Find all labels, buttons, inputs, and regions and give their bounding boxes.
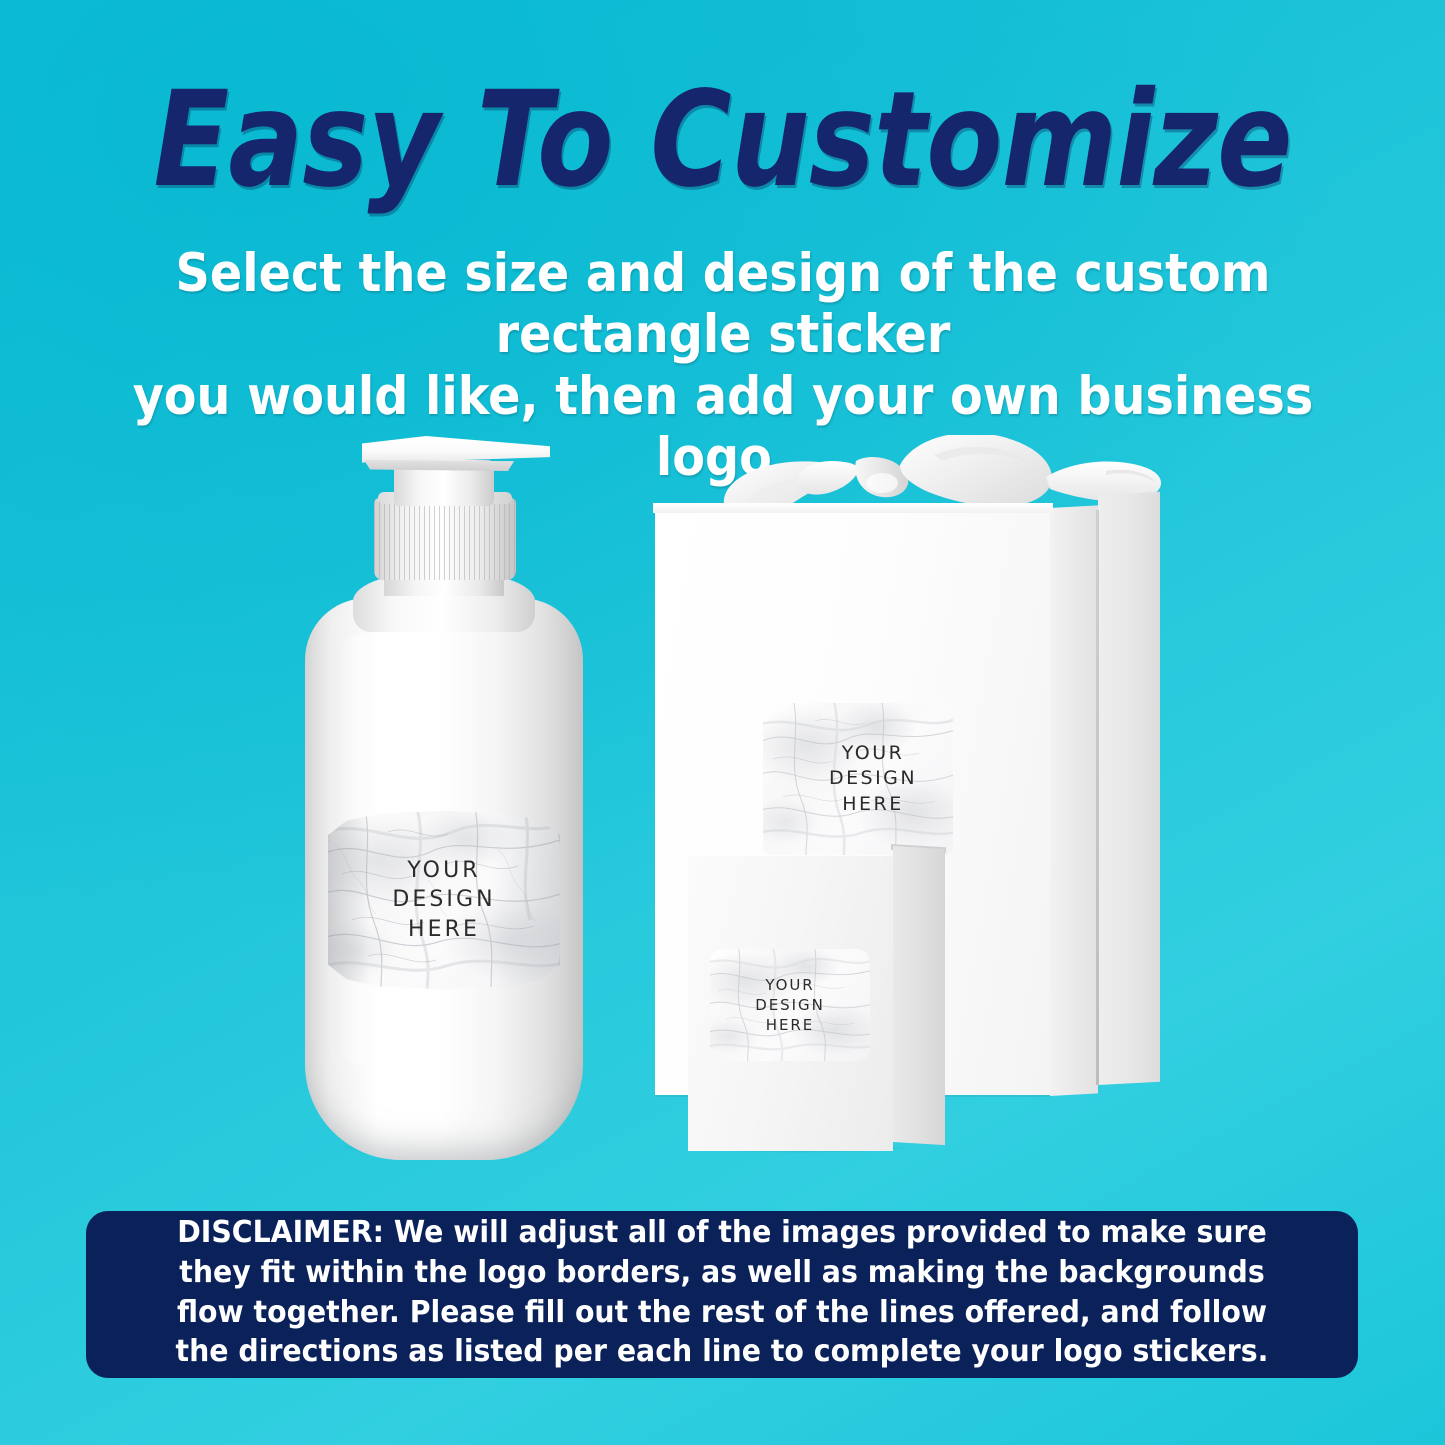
- gift-box-top-lip: [653, 503, 1053, 513]
- pump-collar-ribbed: [374, 498, 516, 580]
- sticker-preview-giftbox[interactable]: YOUR DESIGN HERE: [763, 703, 953, 855]
- sticker-line-1: YOUR: [765, 975, 814, 995]
- pump-nozzle-shade: [364, 460, 514, 471]
- sticker-line-3: HERE: [408, 915, 480, 944]
- sticker-line-2: DESIGN: [829, 766, 917, 791]
- small-box-side-panel: [893, 846, 945, 1145]
- disclaimer-label: DISCLAIMER:: [177, 1215, 384, 1250]
- sticker-preview-bottle[interactable]: YOUR DESIGN HERE: [328, 810, 560, 990]
- gift-box-side-panel: [1098, 492, 1160, 1085]
- gift-box-lid-edge: [1050, 505, 1098, 1096]
- promo-banner: Easy To Customize Select the size and de…: [0, 0, 1445, 1445]
- sticker-line-1: YOUR: [842, 741, 905, 766]
- sticker-line-2: DESIGN: [392, 885, 495, 914]
- sticker-line-3: HERE: [766, 1015, 814, 1035]
- sticker-text-smallbox: YOUR DESIGN HERE: [710, 949, 870, 1061]
- sticker-line-1: YOUR: [407, 856, 480, 885]
- page-title: Easy To Customize: [116, 74, 1330, 206]
- sticker-text-bottle: YOUR DESIGN HERE: [328, 810, 560, 990]
- sticker-preview-smallbox[interactable]: YOUR DESIGN HERE: [710, 949, 870, 1061]
- subtitle-line-1: Select the size and design of the custom…: [120, 243, 1326, 366]
- gift-box-small: YOUR DESIGN HERE: [688, 856, 950, 1161]
- gift-box-seam: [1096, 510, 1099, 1085]
- disclaimer-text: DISCLAIMER: We will adjust all of the im…: [158, 1213, 1285, 1372]
- sticker-line-3: HERE: [842, 792, 903, 817]
- disclaimer-box: DISCLAIMER: We will adjust all of the im…: [86, 1211, 1358, 1378]
- pump-bottle: YOUR DESIGN HERE: [290, 420, 610, 1160]
- product-scene: YOUR DESIGN HERE: [0, 390, 1445, 1190]
- sticker-line-2: DESIGN: [755, 995, 825, 1015]
- sticker-text-giftbox: YOUR DESIGN HERE: [763, 703, 953, 855]
